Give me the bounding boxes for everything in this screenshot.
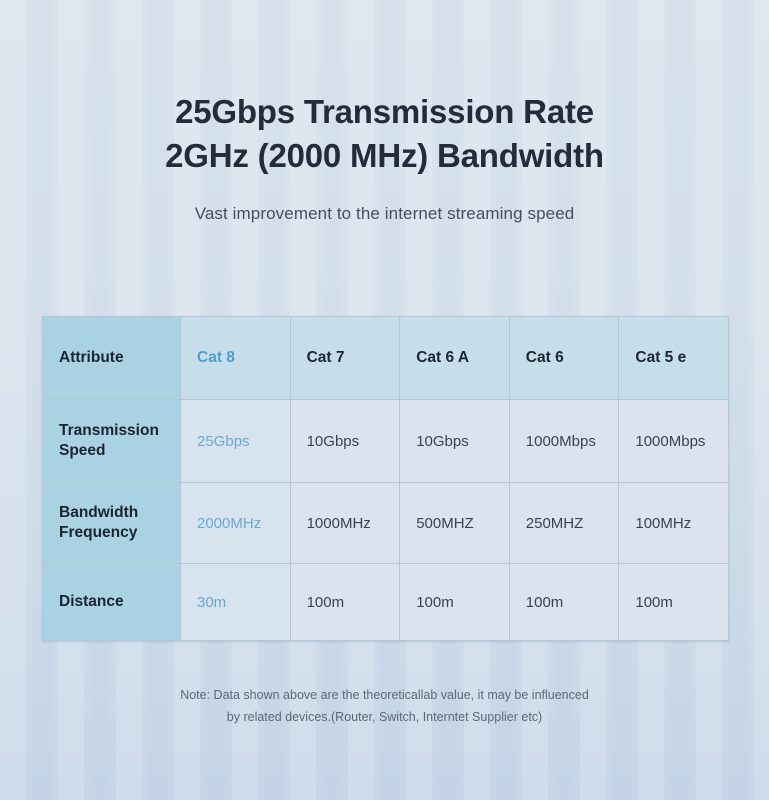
cell-distance-cat-8: 30m [181, 564, 291, 641]
table-row: Distance 30m 100m 100m 100m 100m [43, 564, 729, 641]
spec-comparison-table: Attribute Cat 8 Cat 7 Cat 6 A Cat 6 Cat … [42, 316, 729, 641]
spec-comparison-table-wrapper: Attribute Cat 8 Cat 7 Cat 6 A Cat 6 Cat … [42, 316, 728, 641]
cell-distance-cat-5e: 100m [619, 564, 729, 641]
product-spec-page: 25Gbps Transmission Rate 2GHz (2000 MHz)… [0, 0, 769, 800]
table-row: BandwidthFrequency 2000MHz 1000MHz 500MH… [43, 483, 729, 564]
cell-transmission-speed-cat-6: 1000Mbps [509, 400, 619, 483]
column-header-cat-5e: Cat 5 e [619, 317, 729, 400]
footnote-line-2: by related devices.(Router, Switch, Inte… [0, 706, 769, 728]
footnote: Note: Data shown above are the theoretic… [0, 684, 769, 728]
table-body: TransmissionSpeed 25Gbps 10Gbps 10Gbps 1… [43, 400, 729, 641]
cell-bandwidth-frequency-cat-8: 2000MHz [181, 483, 291, 564]
footnote-line-1: Note: Data shown above are the theoretic… [0, 684, 769, 706]
cell-transmission-speed-cat-7: 10Gbps [290, 400, 400, 483]
column-header-cat-8: Cat 8 [181, 317, 291, 400]
cell-transmission-speed-cat-8: 25Gbps [181, 400, 291, 483]
cell-distance-cat-6a: 100m [400, 564, 510, 641]
row-header-line-1: Bandwidth [59, 504, 138, 521]
column-header-attribute: Attribute [43, 317, 181, 400]
cell-bandwidth-frequency-cat-7: 1000MHz [290, 483, 400, 564]
row-header-line-2: Speed [59, 442, 106, 459]
row-header-transmission-speed: TransmissionSpeed [43, 400, 181, 483]
column-header-cat-6a: Cat 6 A [400, 317, 510, 400]
table-header: Attribute Cat 8 Cat 7 Cat 6 A Cat 6 Cat … [43, 317, 729, 400]
row-header-bandwidth-frequency: BandwidthFrequency [43, 483, 181, 564]
cell-bandwidth-frequency-cat-6a: 500MHZ [400, 483, 510, 564]
page-title-line-2: 2GHz (2000 MHz) Bandwidth [0, 134, 769, 178]
row-header-line-1: Transmission [59, 422, 159, 439]
page-subtitle: Vast improvement to the internet streami… [0, 204, 769, 224]
cell-bandwidth-frequency-cat-5e: 100MHz [619, 483, 729, 564]
column-header-cat-7: Cat 7 [290, 317, 400, 400]
heading-block: 25Gbps Transmission Rate 2GHz (2000 MHz)… [0, 90, 769, 224]
cell-bandwidth-frequency-cat-6: 250MHZ [509, 483, 619, 564]
cell-transmission-speed-cat-6a: 10Gbps [400, 400, 510, 483]
cell-transmission-speed-cat-5e: 1000Mbps [619, 400, 729, 483]
row-header-distance: Distance [43, 564, 181, 641]
cell-distance-cat-6: 100m [509, 564, 619, 641]
row-header-line-2: Frequency [59, 524, 137, 541]
table-row: TransmissionSpeed 25Gbps 10Gbps 10Gbps 1… [43, 400, 729, 483]
page-title-line-1: 25Gbps Transmission Rate [0, 90, 769, 134]
column-header-cat-6: Cat 6 [509, 317, 619, 400]
table-header-row: Attribute Cat 8 Cat 7 Cat 6 A Cat 6 Cat … [43, 317, 729, 400]
cell-distance-cat-7: 100m [290, 564, 400, 641]
